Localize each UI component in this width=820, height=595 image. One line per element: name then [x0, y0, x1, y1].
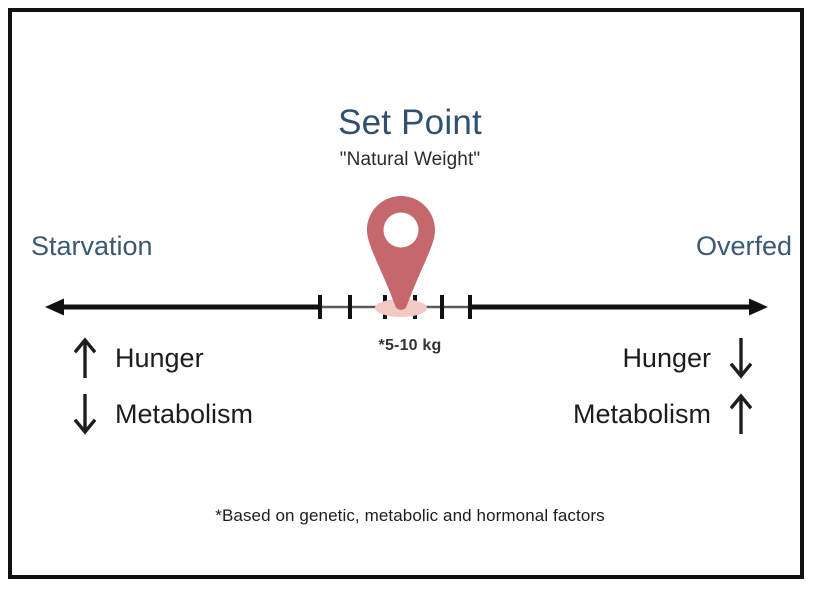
- title-block: Set Point "Natural Weight": [0, 105, 820, 171]
- effect-label-hunger: Hunger: [115, 343, 204, 374]
- effects-left-column: Hunger Metabolism: [68, 330, 253, 442]
- page-title: Set Point: [0, 105, 820, 142]
- pin-hole: [384, 213, 419, 248]
- footnote-text: *Based on genetic, metabolic and hormona…: [0, 506, 820, 526]
- effect-row: Hunger: [68, 330, 253, 386]
- effect-row: Metabolism: [68, 386, 253, 442]
- right-arrowhead-icon: [749, 299, 768, 316]
- setpoint-diagram-slide: Set Point "Natural Weight" Starvation Ov…: [0, 0, 820, 595]
- effect-row: Hunger: [573, 330, 758, 386]
- arrow-up-icon: [68, 336, 102, 380]
- axis-label-starvation: Starvation: [31, 231, 153, 262]
- arrow-down-icon: [724, 336, 758, 380]
- effects-right-column: Hunger Metabolism: [573, 330, 758, 442]
- map-pin-icon: [362, 193, 440, 318]
- arrow-up-icon: [724, 392, 758, 436]
- left-arrowhead-icon: [45, 299, 64, 316]
- page-subtitle: "Natural Weight": [0, 149, 820, 171]
- effect-label-metabolism: Metabolism: [115, 399, 253, 430]
- arrow-down-icon: [68, 392, 102, 436]
- effect-label-metabolism: Metabolism: [573, 399, 711, 430]
- effect-row: Metabolism: [573, 386, 758, 442]
- set-point-marker: [362, 193, 440, 318]
- effect-label-hunger: Hunger: [622, 343, 711, 374]
- axis-label-overfed: Overfed: [696, 231, 792, 262]
